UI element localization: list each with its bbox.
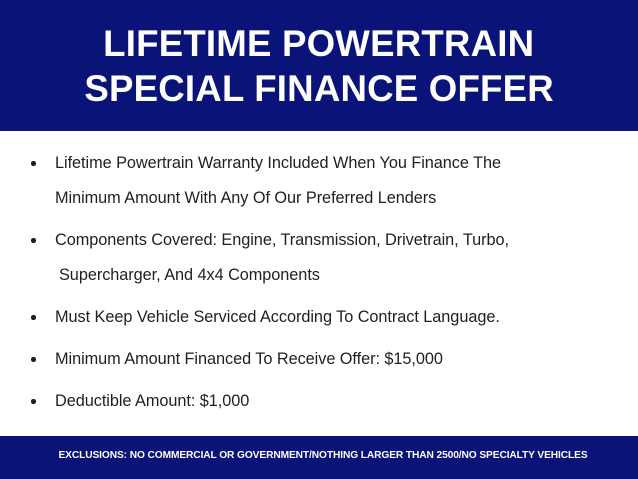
page-title-line-1: LIFETIME POWERTRAIN [103,21,534,66]
list-item-line: Minimum Amount Financed To Receive Offer… [55,342,624,377]
list-item-line: Components Covered: Engine, Transmission… [55,223,624,258]
list-item: Lifetime Powertrain Warranty Included Wh… [14,146,624,216]
exclusions-bar: EXCLUSIONS: NO COMMERCIAL OR GOVERNMENT/… [0,436,638,479]
offer-terms-list: Lifetime Powertrain Warranty Included Wh… [14,146,624,461]
list-item: Deductible Amount: $1,000 [14,384,624,419]
exclusions-text: EXCLUSIONS: NO COMMERCIAL OR GOVERNMENT/… [58,450,587,461]
body-content: Lifetime Powertrain Warranty Included Wh… [0,131,638,436]
bullet-dot-icon [31,357,36,362]
offer-slide: LIFETIME POWERTRAIN SPECIAL FINANCE OFFE… [0,0,638,479]
page-title-line-2: SPECIAL FINANCE OFFER [84,66,554,111]
bullet-dot-icon [31,315,36,320]
bullet-dot-icon [31,399,36,404]
list-item: Minimum Amount Financed To Receive Offer… [14,342,624,377]
list-item-line: Minimum Amount With Any Of Our Preferred… [55,181,624,216]
header-banner: LIFETIME POWERTRAIN SPECIAL FINANCE OFFE… [0,0,638,131]
list-item-line: Deductible Amount: $1,000 [55,384,624,419]
bullet-dot-icon [31,238,36,243]
list-item-line: Supercharger, And 4x4 Components [55,258,624,293]
list-item: Components Covered: Engine, Transmission… [14,223,624,293]
list-item-line: Must Keep Vehicle Serviced According To … [55,300,624,335]
bullet-dot-icon [31,161,36,166]
list-item: Must Keep Vehicle Serviced According To … [14,300,624,335]
list-item-line: Lifetime Powertrain Warranty Included Wh… [55,146,624,181]
